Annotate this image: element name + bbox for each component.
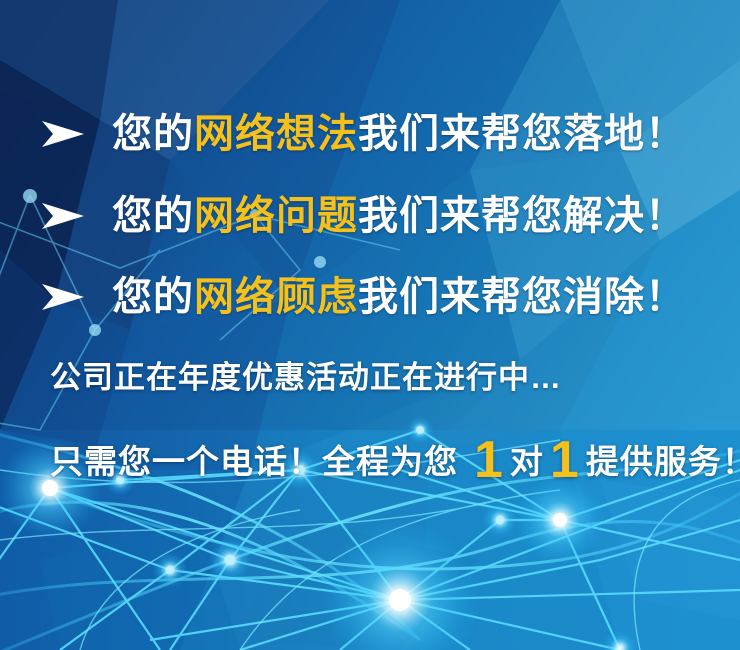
promo-line-2: 只需您一个电话！全程为您 1 对 1 提供服务！: [50, 430, 740, 482]
bullet-3-highlight: 网络顾虑: [194, 275, 358, 319]
bullet-2-prefix: 您的: [112, 194, 194, 238]
bullet-row-3: 您的网络顾虑我们来帮您消除！: [0, 266, 740, 328]
bullet-row-2: 您的网络问题我们来帮您解决！: [0, 185, 740, 247]
promo-number-a: 1: [468, 434, 510, 486]
bullet-text-2: 您的网络问题我们来帮您解决！: [112, 196, 686, 236]
arrow-right-icon: [40, 201, 86, 231]
promo-line-2-part1: 只需您一个电话！全程为您: [50, 445, 458, 478]
bullet-2-suffix: 我们来帮您解决！: [358, 194, 686, 238]
promo-line-2-part2: 提供服务！: [586, 445, 740, 478]
promo-banner: 您的网络想法我们来帮您落地！ 您的网络问题我们来帮您解决！ 您的网络顾虑我们来帮…: [0, 0, 740, 650]
bullet-text-3: 您的网络顾虑我们来帮您消除！: [112, 277, 686, 317]
promo-number-b: 1: [544, 434, 586, 486]
bullet-row-1: 您的网络想法我们来帮您落地！: [0, 103, 740, 165]
bullet-1-highlight: 网络想法: [194, 112, 358, 156]
arrow-right-icon: [40, 119, 86, 149]
bullet-2-highlight: 网络问题: [194, 194, 358, 238]
bullet-text-1: 您的网络想法我们来帮您落地！: [112, 114, 686, 154]
bullet-3-suffix: 我们来帮您消除！: [358, 275, 686, 319]
bullet-1-suffix: 我们来帮您落地！: [358, 112, 686, 156]
bullet-3-prefix: 您的: [112, 275, 194, 319]
arrow-right-icon: [40, 282, 86, 312]
promo-line-2-middle: 对: [510, 445, 544, 478]
bullet-1-prefix: 您的: [112, 112, 194, 156]
promo-line-1: 公司正在年度优惠活动正在进行中…: [50, 362, 562, 393]
banner-content: 您的网络想法我们来帮您落地！ 您的网络问题我们来帮您解决！ 您的网络顾虑我们来帮…: [0, 0, 740, 650]
